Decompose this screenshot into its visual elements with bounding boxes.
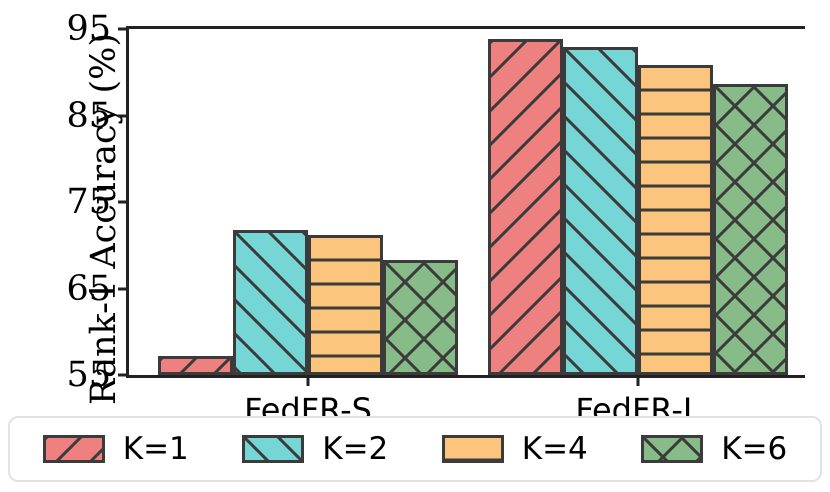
legend-entry-k4[interactable]: K=4 <box>442 431 588 467</box>
bar-fedfr-l-k1[interactable] <box>488 39 563 375</box>
y-tick-mark <box>118 114 129 117</box>
bar-fedfr-s-k4[interactable] <box>308 235 383 375</box>
legend-label: K=2 <box>322 431 388 467</box>
y-tick-label: 75 <box>66 182 111 222</box>
y-tick-label: 85 <box>66 96 111 136</box>
legend-entry-k2[interactable]: K=2 <box>242 431 388 467</box>
chart-legend: K=1 K=2 K=4 K=6 <box>8 416 822 482</box>
legend-label: K=6 <box>721 431 787 467</box>
cyan-diagonal-swatch <box>242 435 304 463</box>
legend-label: K=1 <box>123 431 189 467</box>
bar-fedfr-s-k2[interactable] <box>233 230 308 375</box>
bar-fedfr-l-k6[interactable] <box>713 84 788 375</box>
y-tick-mark <box>118 201 129 204</box>
legend-entry-k6[interactable]: K=6 <box>641 431 787 467</box>
bar-chart-figure: Rank-1 Accuracy (%) 95 85 75 65 55 FedFR… <box>0 0 830 492</box>
orange-horizontal-swatch <box>442 435 504 463</box>
y-tick-mark <box>118 374 129 377</box>
green-crosshatch-swatch <box>641 435 703 463</box>
plot-area: 95 85 75 65 55 FedFR-S FedFR-L <box>126 26 805 378</box>
y-tick-label: 65 <box>66 269 111 309</box>
y-tick-mark <box>118 287 129 290</box>
y-tick-label: 95 <box>66 9 111 49</box>
bar-fedfr-l-k2[interactable] <box>563 47 638 375</box>
red-diagonal-swatch <box>43 435 105 463</box>
y-tick-mark <box>118 28 129 31</box>
legend-entry-k1[interactable]: K=1 <box>43 431 189 467</box>
bar-fedfr-s-k6[interactable] <box>383 260 458 375</box>
bar-fedfr-s-k1[interactable] <box>158 356 233 375</box>
x-tick-mark <box>307 375 310 386</box>
y-tick-label: 55 <box>66 355 111 395</box>
x-tick-mark <box>637 375 640 386</box>
bar-fedfr-l-k4[interactable] <box>638 65 713 375</box>
legend-label: K=4 <box>522 431 588 467</box>
